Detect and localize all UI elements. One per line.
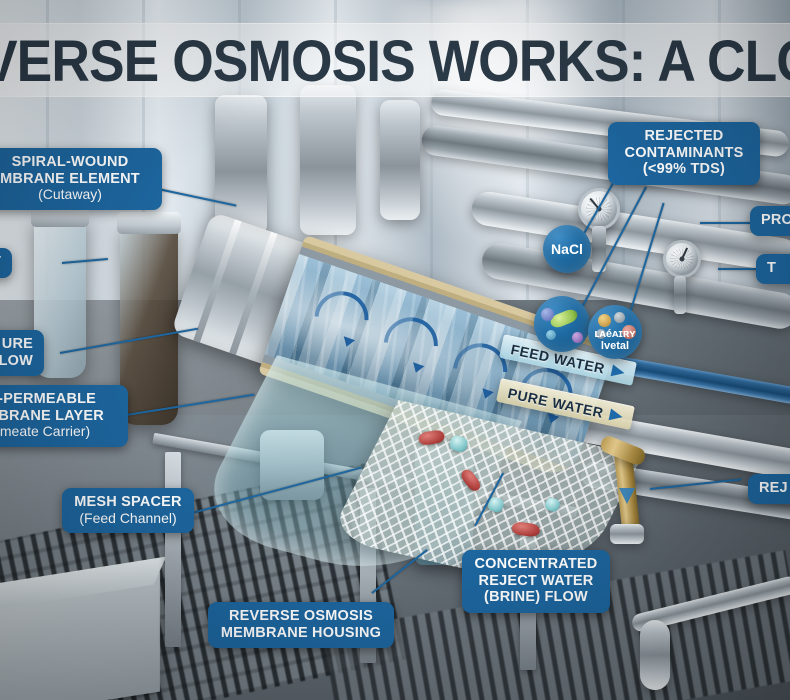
flow-arrow-icon xyxy=(609,408,624,422)
pressure-flow-line2: FLOW xyxy=(0,353,33,369)
mesh-spacer-line2: (Feed Channel) xyxy=(73,511,183,527)
leader-t-label xyxy=(718,268,758,270)
product-water-line1: PROD xyxy=(761,212,790,228)
label-semipermeable-membrane[interactable]: I-PERMEABLE MBRANE LAYER meate Carrier) xyxy=(0,385,128,447)
flow-arrow-icon xyxy=(610,364,625,378)
t-label-line1: T xyxy=(767,260,776,276)
pressure-vessel xyxy=(380,100,420,220)
semipermeable-line2: MBRANE LAYER xyxy=(0,408,104,424)
label-t[interactable]: T xyxy=(756,254,790,284)
spiral-wound-line3: (Cutaway) xyxy=(0,187,151,203)
contaminant-bubble-microbes xyxy=(534,296,590,352)
label-pressure-flow[interactable]: URE FLOW xyxy=(0,330,44,376)
label-product-water[interactable]: PROD xyxy=(750,206,790,236)
virus-glyph xyxy=(541,308,554,321)
brine-down-arrow-icon xyxy=(619,488,635,504)
metal-particle-glyph xyxy=(598,314,611,327)
virus-glyph xyxy=(572,332,583,343)
rejected-line1: REJECTED xyxy=(645,128,724,144)
brine-drain-fitting xyxy=(610,524,644,544)
pressure-flow-line1: URE xyxy=(2,336,33,352)
virus-glyph xyxy=(546,330,556,340)
semipermeable-line1: I-PERMEABLE xyxy=(0,391,96,407)
pressure-gauge-icon xyxy=(663,240,701,278)
spiral-wound-line2: MBRANE ELEMENT xyxy=(0,171,140,187)
label-reject-right[interactable]: REJ xyxy=(748,474,790,504)
brine-line1: CONCENTRATED xyxy=(475,556,598,572)
mesh-spacer-line1: MESH SPACER xyxy=(74,494,181,510)
label-ro-membrane-housing[interactable]: REVERSE OSMOSIS MEMBRANE HOUSING xyxy=(208,602,394,648)
infographic-canvas: FEED WATER PURE WATER NaCl ʟᴀéᴀɪʀʏ lveta… xyxy=(0,0,790,700)
vertical-drain-pipe xyxy=(640,620,670,690)
ro-housing-line2: MEMBRANE HOUSING xyxy=(221,625,381,641)
label-prefilter-sediment[interactable]: T xyxy=(0,248,12,278)
ro-housing-line1: REVERSE OSMOSIS xyxy=(229,608,373,624)
leader-product-water xyxy=(700,222,752,224)
spiral-wound-line1: SPIRAL-WOUND xyxy=(12,154,129,170)
brine-line3: (BRINE) FLOW xyxy=(484,589,588,605)
label-spiral-wound-element[interactable]: SPIRAL-WOUND MBRANE ELEMENT (Cutaway) xyxy=(0,148,162,210)
rejected-line2: CONTAMINANTS xyxy=(625,145,744,161)
brine-line2: REJECT WATER xyxy=(479,573,594,589)
rejected-line3: (<99% TDS) xyxy=(643,161,725,177)
label-mesh-spacer[interactable]: MESH SPACER (Feed Channel) xyxy=(62,488,194,533)
label-brine-flow[interactable]: CONCENTRATED REJECT WATER (BRINE) FLOW xyxy=(462,550,610,613)
concrete-plinth xyxy=(0,572,160,700)
contaminant-bubble-nacl: NaCl xyxy=(543,225,591,273)
prefilter-line1: T xyxy=(0,254,1,270)
nacl-label: NaCl xyxy=(551,241,583,257)
reject-right-line1: REJ xyxy=(759,480,788,496)
heavy-metals-label-line2: lvetal xyxy=(601,341,629,353)
semipermeable-line3: meate Carrier) xyxy=(0,424,117,440)
page-title: VERSE OSMOSIS WORKS: A CLOSE-U xyxy=(0,28,773,95)
metal-particle-glyph xyxy=(614,312,625,323)
contaminant-bubble-heavy-metals: ʟᴀéᴀɪʀʏ lvetal xyxy=(588,305,642,359)
gauge-stem xyxy=(674,276,686,314)
pressure-vessel xyxy=(300,85,356,235)
label-rejected-contaminants[interactable]: REJECTED CONTAMINANTS (<99% TDS) xyxy=(608,122,760,185)
